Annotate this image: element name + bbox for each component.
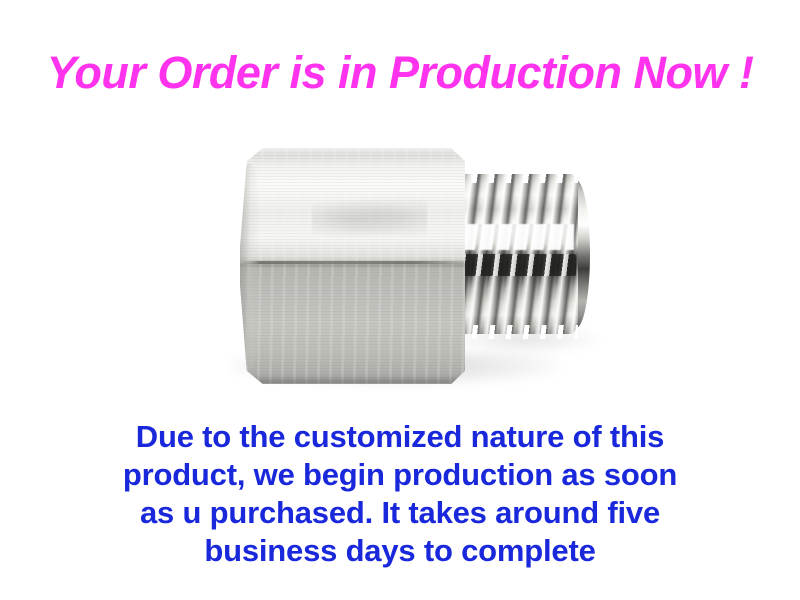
male-threaded-end-icon (450, 174, 590, 334)
surface-marking (312, 199, 427, 239)
thread-groove-band (452, 254, 576, 276)
hex-left-facet (240, 163, 260, 369)
thread-crest-top (450, 169, 578, 183)
product-image (200, 130, 630, 400)
note-line-4: business days to complete (70, 532, 730, 570)
note-line-2: product, we begin production as soon (70, 456, 730, 494)
hex-face-edge (242, 261, 464, 264)
note-line-1: Due to the customized nature of this (70, 418, 730, 456)
production-note: Due to the customized nature of this pro… (70, 418, 730, 570)
promo-banner: Your Order is in Production Now ! (0, 0, 800, 600)
hex-bottom-chamfer (248, 376, 458, 384)
hex-top-chamfer (248, 148, 458, 155)
thread-highlight-band (454, 224, 574, 250)
machining-texture (240, 147, 465, 385)
page-title: Your Order is in Production Now ! (0, 48, 800, 98)
note-line-3: as u purchased. It takes around five (70, 494, 730, 532)
thread-crest-bottom (450, 325, 578, 339)
thread-barrel (450, 174, 578, 334)
hex-nut-body-icon (240, 147, 465, 385)
